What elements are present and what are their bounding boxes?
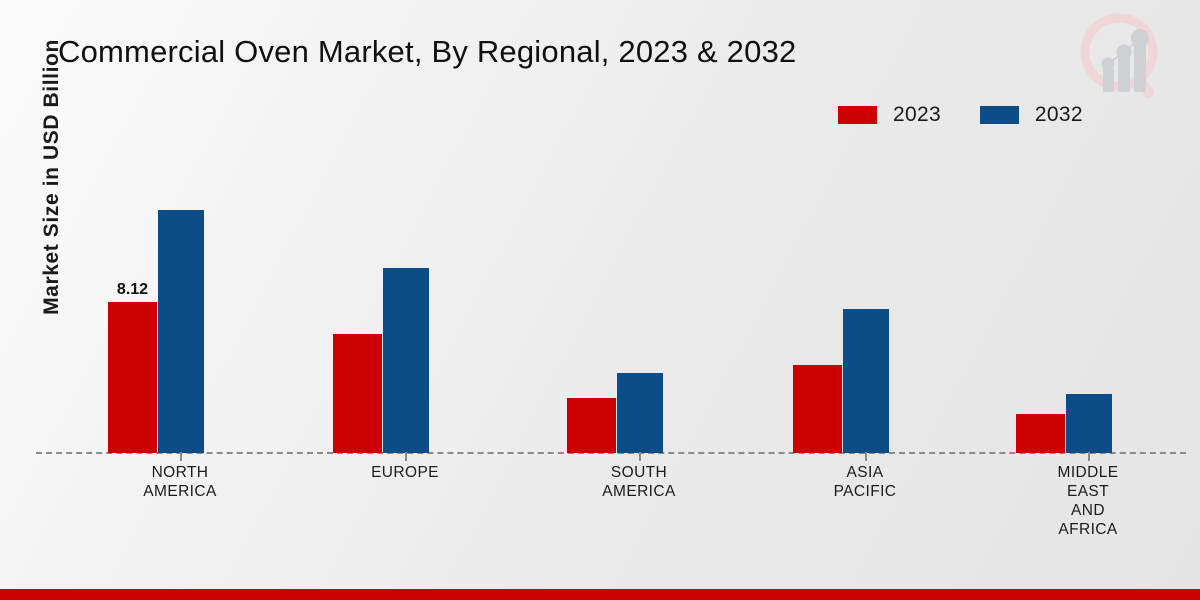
x-axis-label-na: NORTHAMERICA: [90, 463, 270, 501]
bar-eu-2023[interactable]: [333, 334, 382, 453]
bar-mea-2032[interactable]: [1066, 394, 1112, 453]
x-axis-label-line: AFRICA: [998, 520, 1178, 539]
chart-legend: 2023 2032: [838, 103, 1083, 127]
x-axis-label-line: ASIA: [775, 463, 955, 482]
bar-group-ap: [793, 150, 889, 453]
infographic-canvas: Commercial Oven Market, By Regional, 202…: [0, 0, 1200, 600]
bar-sa-2023[interactable]: [567, 398, 616, 453]
x-axis-tick-sa: [639, 452, 641, 461]
x-axis-label-line: PACIFIC: [775, 482, 955, 501]
bar-mea-2023[interactable]: [1016, 414, 1065, 453]
market-research-magnifier-logo: [1066, 6, 1178, 104]
bar-value-label-na-2023: 8.12: [108, 281, 157, 299]
x-axis-tick-eu: [405, 452, 407, 461]
x-axis-label-line: EUROPE: [315, 463, 495, 482]
x-axis-label-line: AMERICA: [549, 482, 729, 501]
bar-na-2032[interactable]: [158, 210, 204, 453]
bar-group-sa: [567, 150, 663, 453]
bar-group-eu: [333, 150, 429, 453]
bar-group-mea: [1016, 150, 1112, 453]
legend-label-2032: 2032: [1035, 103, 1083, 127]
bar-group-na: 8.12: [108, 150, 204, 453]
x-axis-label-eu: EUROPE: [315, 463, 495, 482]
legend-item-2032[interactable]: 2032: [980, 103, 1083, 127]
x-axis-label-line: EAST: [998, 482, 1178, 501]
bar-sa-2032[interactable]: [617, 373, 663, 453]
legend-swatch-2032: [980, 106, 1019, 124]
x-axis-label-ap: ASIAPACIFIC: [775, 463, 955, 501]
bar-ap-2032[interactable]: [843, 309, 889, 453]
bar-na-2023[interactable]: 8.12: [108, 302, 157, 453]
x-axis-label-sa: SOUTHAMERICA: [549, 463, 729, 501]
x-axis-label-line: AMERICA: [90, 482, 270, 501]
bar-ap-2023[interactable]: [793, 365, 842, 453]
legend-item-2023[interactable]: 2023: [838, 103, 941, 127]
legend-swatch-2023: [838, 106, 877, 124]
x-axis-label-line: MIDDLE: [998, 463, 1178, 482]
x-axis-label-line: AND: [998, 501, 1178, 520]
x-axis-tick-mea: [1088, 452, 1090, 461]
legend-label-2023: 2023: [893, 103, 941, 127]
footer-band: [0, 589, 1200, 600]
x-axis-label-mea: MIDDLEEASTANDAFRICA: [998, 463, 1178, 539]
bar-eu-2032[interactable]: [383, 268, 429, 453]
plot-area: 8.12 NORTHAMERICAEUROPESOUTHAMERICAASIAP…: [36, 150, 1186, 453]
page-title: Commercial Oven Market, By Regional, 202…: [58, 34, 796, 70]
x-axis-tick-na: [180, 452, 182, 461]
x-axis-label-line: SOUTH: [549, 463, 729, 482]
x-axis-label-line: NORTH: [90, 463, 270, 482]
x-axis-tick-ap: [865, 452, 867, 461]
